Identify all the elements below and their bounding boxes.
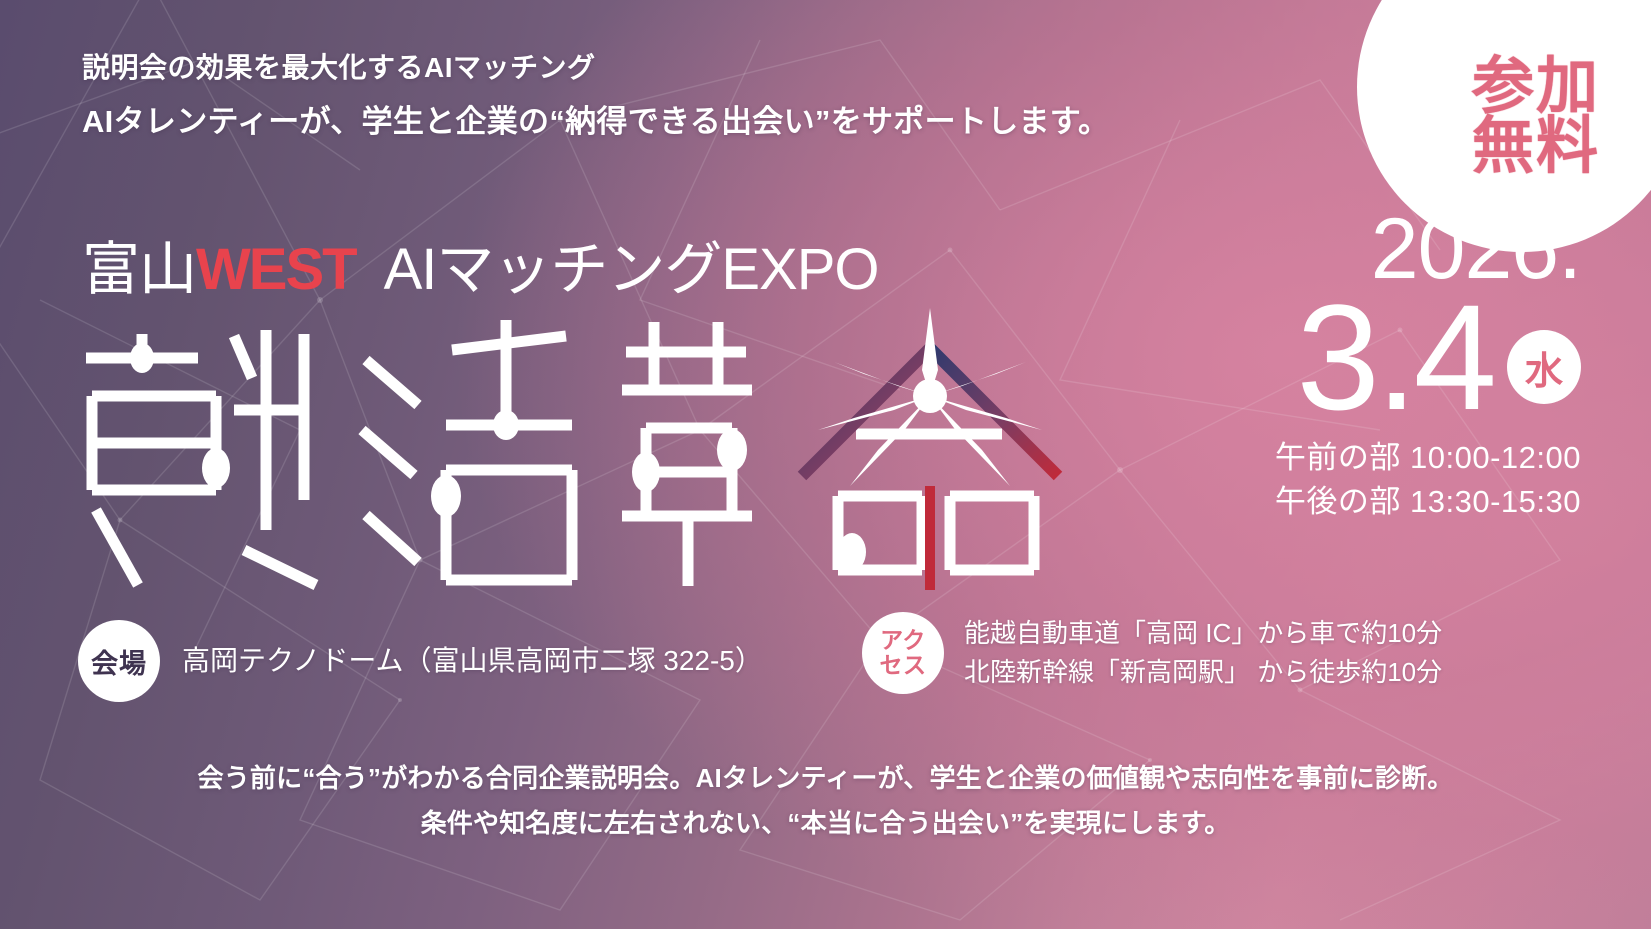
- date-day-row: 3.4 水: [1161, 288, 1581, 426]
- day-of-week-badge: 水: [1507, 330, 1581, 404]
- lead-copy: 説明会の効果を最大化するAIマッチング AIタレンティーが、学生と企業の“納得で…: [82, 46, 1109, 146]
- venue-text: 高岡テクノドーム（富山県高岡市二塚 322-5）: [182, 640, 763, 682]
- starburst-icon: [818, 308, 1042, 486]
- access-label-line1: アク: [880, 628, 926, 653]
- footer-copy: 会う前に“合う”がわかる合同企業説明会。AIタレンティーが、学生と企業の価値観や…: [0, 756, 1651, 845]
- poster-root: 参加 無料 説明会の効果を最大化するAIマッチング AIタレンティーが、学生と企…: [0, 0, 1651, 929]
- footer-line-2: 条件や知名度に左右されない、“本当に合う出会い”を実現にします。: [0, 801, 1651, 846]
- afternoon-session: 午後の部 13:30-15:30: [1161, 480, 1581, 524]
- access-line-1: 能越自動車道「高岡 IC」から車で約10分: [964, 614, 1442, 653]
- date-block: 2026. 3.4 水 午前の部 10:00-12:00 午後の部 13:30-…: [1161, 206, 1581, 524]
- headline-shukatsu-kakumei: [66, 300, 1126, 590]
- headline-artwork: [66, 300, 1126, 590]
- event-west-word: WEST: [196, 236, 356, 303]
- access-line-2: 北陸新幹線「新高岡駅」 から徒歩約10分: [964, 653, 1442, 692]
- morning-session: 午前の部 10:00-12:00: [1161, 436, 1581, 480]
- venue-info: 会場 高岡テクノドーム（富山県高岡市二塚 322-5）: [78, 620, 763, 702]
- access-label-badge: アク セス: [862, 612, 944, 694]
- venue-label-badge: 会場: [78, 620, 160, 702]
- event-expo-name: AIマッチングEXPO: [384, 222, 879, 306]
- free-badge-line2: 無料: [1472, 117, 1600, 177]
- event-name-line: 富山 WEST AIマッチングEXPO: [82, 222, 879, 306]
- event-region: 富山: [82, 222, 196, 306]
- access-label-line2: セス: [880, 653, 927, 678]
- event-day: 3.4: [1296, 288, 1493, 426]
- access-text-group: 能越自動車道「高岡 IC」から車で約10分 北陸新幹線「新高岡駅」 から徒歩約1…: [964, 614, 1442, 692]
- access-info: アク セス 能越自動車道「高岡 IC」から車で約10分 北陸新幹線「新高岡駅」 …: [862, 612, 1442, 694]
- lead-line-1: 説明会の効果を最大化するAIマッチング: [82, 46, 1109, 91]
- footer-line-1: 会う前に“合う”がわかる合同企業説明会。AIタレンティーが、学生と企業の価値観や…: [0, 756, 1651, 801]
- free-badge-line1: 参加: [1472, 57, 1600, 117]
- session-times: 午前の部 10:00-12:00 午後の部 13:30-15:30: [1161, 436, 1581, 524]
- lead-line-2: AIタレンティーが、学生と企業の“納得できる出会い”をサポートします。: [82, 97, 1109, 147]
